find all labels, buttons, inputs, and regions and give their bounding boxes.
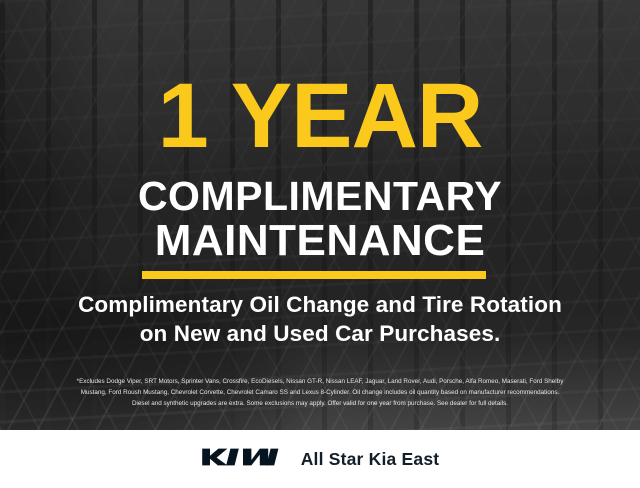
disclaimer-line-3: Diesel and synthetic upgrades are extra.… [12,399,628,410]
disclaimer-line-1: *Excludes Dodge Viper, SRT Motors, Sprin… [12,377,628,388]
headline-secondary-line1: COMPLIMENTARY [0,176,640,217]
dealer-name: All Star Kia East [301,449,440,470]
promotional-banner: 1 YEAR COMPLIMENTARY MAINTENANCE Complim… [0,0,640,488]
subheading: Complimentary Oil Change and Tire Rotati… [20,291,620,349]
footer-bar: All Star Kia East [0,430,640,488]
subheading-line-1: Complimentary Oil Change and Tire Rotati… [20,291,620,320]
disclaimer-text: *Excludes Dodge Viper, SRT Motors, Sprin… [12,377,628,409]
kia-logo [201,446,279,473]
headline-primary: 1 YEAR [0,74,640,159]
hero-section: 1 YEAR COMPLIMENTARY MAINTENANCE Complim… [0,0,640,430]
disclaimer-line-2: Mustang, Ford Roush Mustang, Chevrolet C… [12,388,628,399]
accent-divider [142,271,486,279]
subheading-line-2: on New and Used Car Purchases. [20,320,620,349]
headline-secondary-line2: MAINTENANCE [0,219,640,263]
headline-group: 1 YEAR COMPLIMENTARY MAINTENANCE Complim… [0,0,640,430]
